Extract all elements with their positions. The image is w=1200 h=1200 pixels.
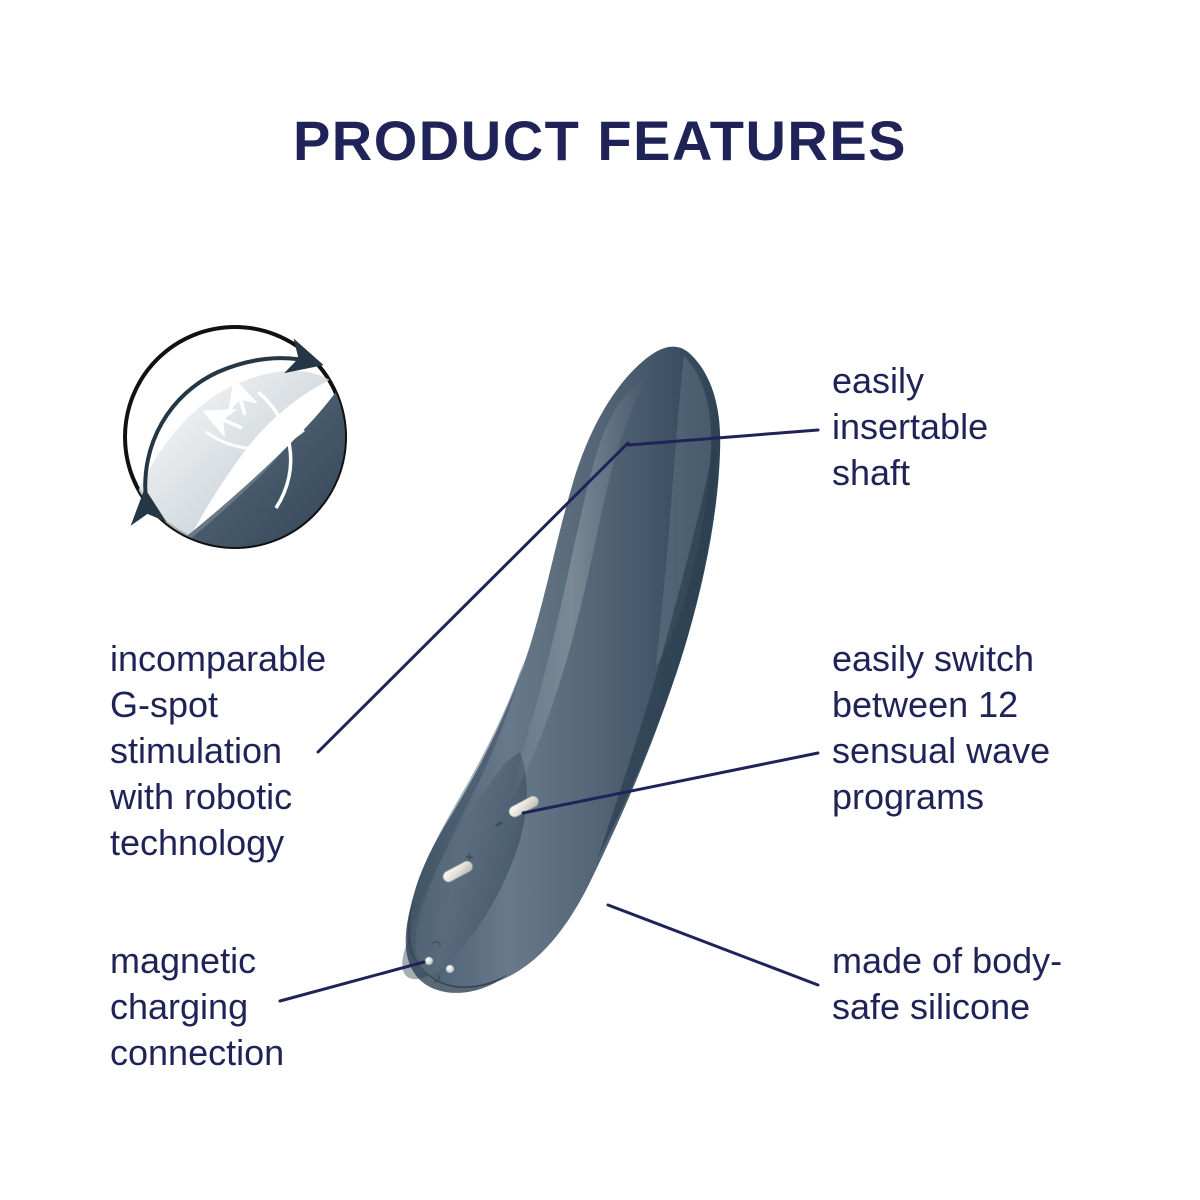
feature-label-switch-programs: easily switch between 12 sensual wave pr…	[832, 636, 1102, 820]
feature-label-gspot-robotic: incomparable G-spot stimulation with rob…	[110, 636, 390, 866]
tip-detail-inset	[125, 327, 384, 620]
feature-label-magnetic-charging: magnetic charging connection	[110, 938, 360, 1076]
feature-label-body-safe-silicone: made of body- safe silicone	[832, 938, 1102, 1030]
feature-label-insertable-shaft: easily insertable shaft	[832, 358, 1092, 496]
leader-body-safe-silicone	[608, 905, 818, 985]
product-body	[402, 347, 720, 993]
product-features-page: PRODUCT FEATURES	[0, 0, 1200, 1200]
